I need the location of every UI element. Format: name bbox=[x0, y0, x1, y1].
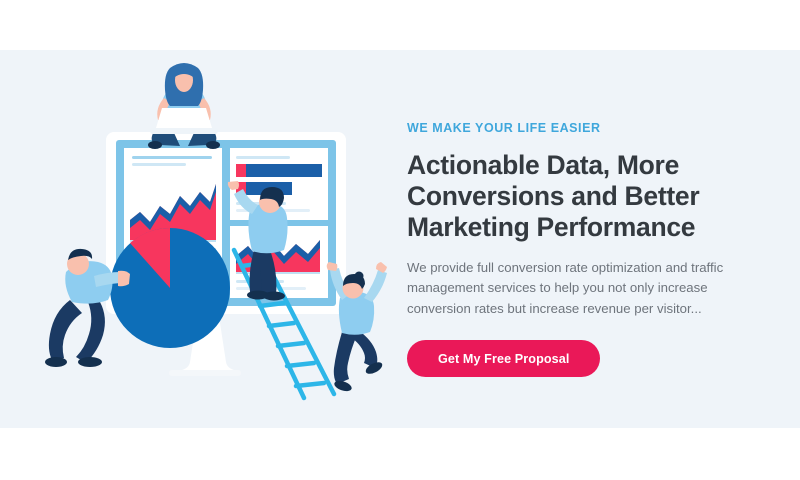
page-title: Actionable Data, More Conversions and Be… bbox=[407, 150, 762, 243]
hero-description: We provide full conversion rate optimiza… bbox=[407, 258, 752, 320]
headline-line-3: Marketing Performance bbox=[407, 212, 695, 242]
hero-section: WE MAKE YOUR LIFE EASIER Actionable Data… bbox=[0, 50, 800, 428]
hero-eyebrow: WE MAKE YOUR LIFE EASIER bbox=[407, 122, 762, 136]
hero-copy: WE MAKE YOUR LIFE EASIER Actionable Data… bbox=[407, 122, 762, 377]
headline-line-2: Conversions and Better bbox=[407, 181, 699, 211]
pie-chart bbox=[110, 228, 230, 348]
get-free-proposal-button[interactable]: Get My Free Proposal bbox=[407, 340, 600, 377]
person-celebrating bbox=[327, 262, 387, 393]
headline-line-1: Actionable Data, More bbox=[407, 150, 679, 180]
data-analytics-team-illustration bbox=[18, 50, 398, 428]
illustration bbox=[18, 50, 398, 428]
hero-page: WE MAKE YOUR LIFE EASIER Actionable Data… bbox=[0, 0, 800, 480]
